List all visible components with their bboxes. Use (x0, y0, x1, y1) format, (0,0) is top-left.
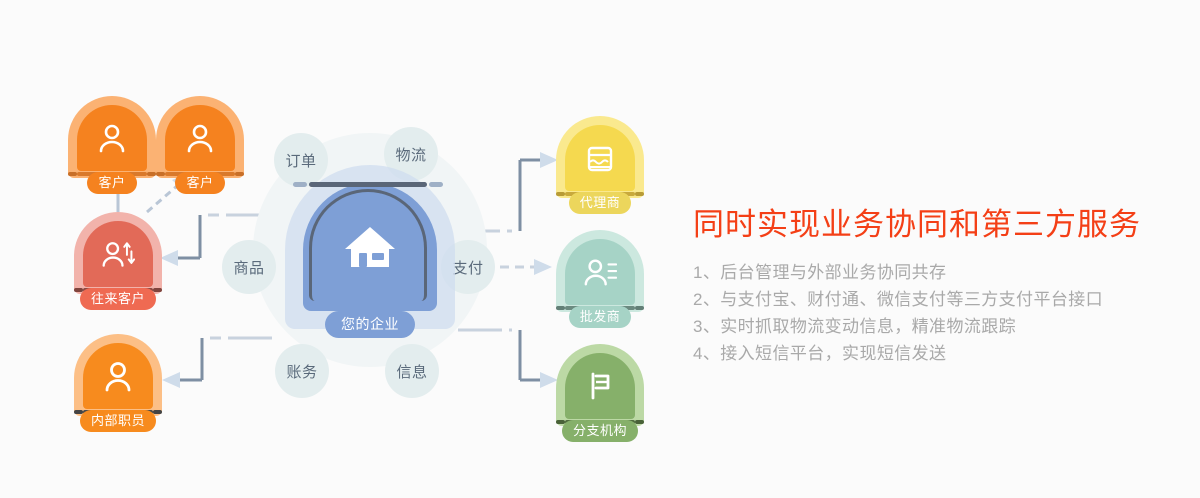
flag-icon (583, 369, 617, 403)
node-agent[interactable]: 代理商 (556, 116, 644, 214)
user-list-icon (583, 255, 617, 289)
node-arch (68, 96, 156, 178)
node-customer-2[interactable]: 客户 (156, 96, 244, 194)
satellite-goods[interactable]: 商品 (222, 240, 276, 294)
node-label: 内部职员 (80, 410, 156, 432)
user-icon (95, 121, 129, 155)
arch-inner (165, 105, 235, 171)
node-branch[interactable]: 分支机构 (556, 344, 644, 442)
node-arch (74, 212, 162, 294)
node-label: 批发商 (569, 306, 632, 328)
satellite-orders[interactable]: 订单 (274, 133, 328, 187)
user-icon (101, 359, 135, 393)
node-arch (556, 116, 644, 198)
node-label: 往来客户 (80, 288, 156, 310)
panel-feature-list: 1、后台管理与外部业务协同共存 2、与支付宝、财付通、微信支付等三方支付平台接口… (693, 259, 1183, 367)
shop-icon (583, 141, 617, 175)
satellite-label: 商品 (233, 257, 264, 278)
satellite-label: 支付 (452, 257, 483, 278)
wire-payment-to-wholesaler (500, 259, 552, 275)
arch-inner (77, 105, 147, 171)
node-arch (74, 334, 162, 416)
arch-inner (565, 239, 635, 305)
hub-ring (309, 189, 427, 301)
panel-list-item: 1、后台管理与外部业务协同共存 (693, 259, 1183, 286)
user-exchange-icon (101, 237, 135, 271)
node-arch (556, 344, 644, 426)
panel-list-item: 2、与支付宝、财付通、微信支付等三方支付平台接口 (693, 286, 1183, 313)
arch-inner (565, 125, 635, 191)
satellite-accounting[interactable]: 账务 (275, 344, 329, 398)
node-label: 代理商 (569, 192, 632, 214)
info-panel: 同时实现业务协同和第三方服务 1、后台管理与外部业务协同共存 2、与支付宝、财付… (693, 205, 1183, 367)
wire-hub-to-branch (458, 330, 558, 388)
node-label: 分支机构 (562, 420, 638, 442)
satellite-label: 物流 (395, 144, 426, 165)
node-label: 客户 (175, 172, 224, 194)
wire-hub-to-internal-staff (162, 338, 272, 388)
panel-list-item: 3、实时抓取物流变动信息，精准物流跟踪 (693, 313, 1183, 340)
satellite-label: 账务 (286, 361, 317, 382)
user-icon (183, 121, 217, 155)
arch-inner (83, 221, 153, 287)
satellite-label: 信息 (396, 361, 427, 382)
satellite-label: 订单 (285, 150, 316, 171)
node-customer-1[interactable]: 客户 (68, 96, 156, 194)
satellite-info[interactable]: 信息 (385, 344, 439, 398)
hub-base (309, 182, 427, 187)
node-arch (556, 230, 644, 312)
diagram-canvas: 订单 物流 商品 支付 账务 信息 您的企业 (0, 0, 1200, 498)
node-internal-staff[interactable]: 内部职员 (74, 334, 162, 432)
node-arch (156, 96, 244, 178)
arch-inner (565, 353, 635, 419)
node-trading-customer[interactable]: 往来客户 (74, 212, 162, 310)
panel-list-item: 4、接入短信平台，实现短信发送 (693, 340, 1183, 367)
arch-inner (83, 343, 153, 409)
hub-label: 您的企业 (325, 311, 415, 338)
node-label: 客户 (87, 172, 136, 194)
panel-title: 同时实现业务协同和第三方服务 (693, 205, 1183, 245)
node-wholesaler[interactable]: 批发商 (556, 230, 644, 328)
